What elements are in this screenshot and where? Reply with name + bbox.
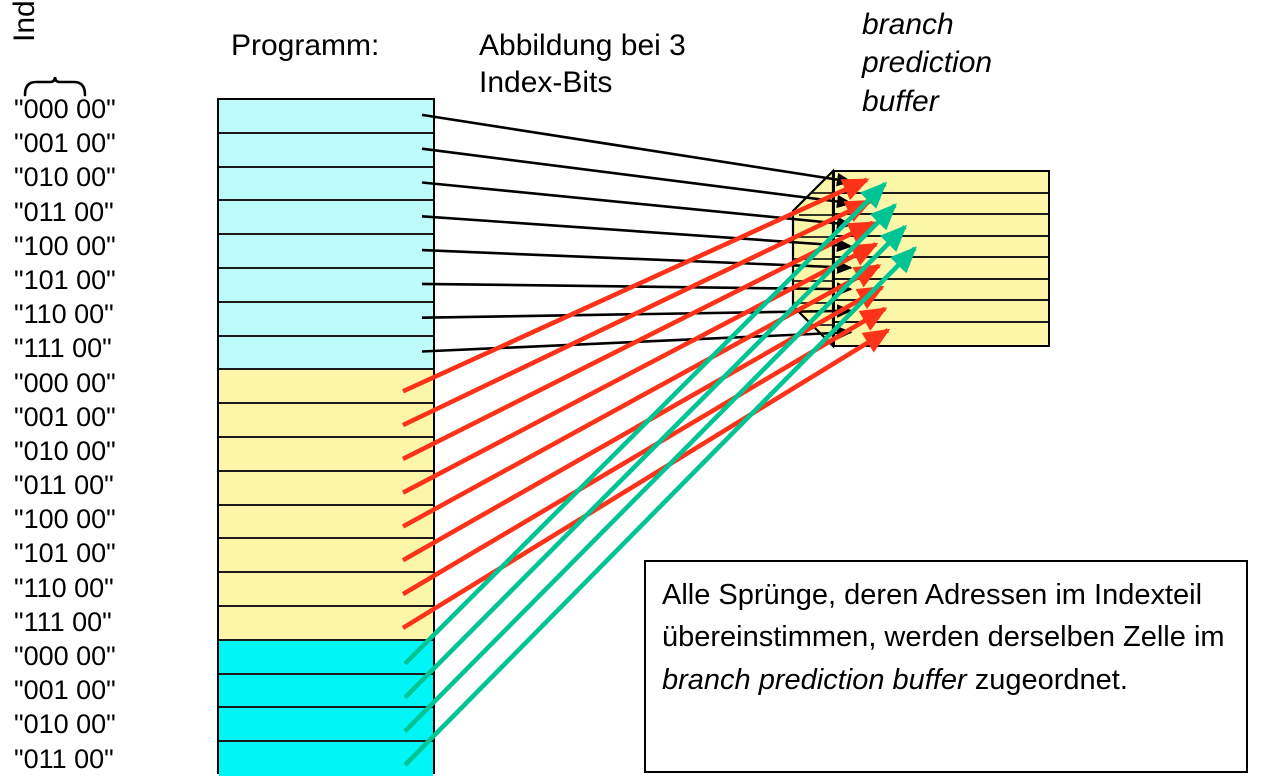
- program-row: [219, 404, 433, 438]
- buffer-row: [835, 323, 1048, 345]
- program-row: [219, 100, 433, 134]
- mapping-arrow-block2: [403, 287, 882, 560]
- caption-box: Alle Sprünge, deren Adressen im Indextei…: [644, 560, 1248, 773]
- address-label: "011 00": [14, 195, 209, 229]
- address-label: "010 00": [14, 707, 209, 741]
- buffer-row: [835, 280, 1048, 302]
- caption-part2: zugeordnet.: [967, 664, 1128, 696]
- address-label: "101 00": [14, 263, 209, 297]
- address-label: "011 00": [14, 468, 209, 502]
- address-label: "111 00": [14, 605, 209, 639]
- buffer-row: [835, 258, 1048, 280]
- branch-prediction-buffer-heading: branch prediction buffer: [862, 6, 992, 121]
- address-label: "101 00": [14, 536, 209, 570]
- program-row: [219, 269, 433, 303]
- address-label: "000 00": [14, 366, 209, 400]
- buffer-row: [835, 237, 1048, 259]
- address-label: "000 00": [14, 639, 209, 673]
- address-label: "001 00": [14, 400, 209, 434]
- mapping-arrow-block2: [403, 180, 867, 392]
- program-row: [219, 539, 433, 573]
- program-row: [219, 370, 433, 404]
- program-row: [219, 337, 433, 371]
- buffer-row: [835, 215, 1048, 237]
- program-row: [219, 607, 433, 641]
- diagram-canvas: Index Programm: Abbildung bei 3 Index-Bi…: [0, 0, 1261, 784]
- mapping-arrow-block1: [422, 250, 851, 268]
- mapping-arrow-block2: [403, 309, 885, 594]
- mapping-arrow-block2: [403, 201, 870, 425]
- address-label: "011 00": [14, 742, 209, 776]
- program-memory-table: [217, 98, 435, 774]
- program-row: [219, 303, 433, 337]
- address-label: "111 00": [14, 331, 209, 365]
- mapping-arrow-block1: [422, 183, 851, 225]
- address-label: "100 00": [14, 229, 209, 263]
- program-row: [219, 235, 433, 269]
- address-label: "010 00": [14, 434, 209, 468]
- caption-part1: Alle Sprünge, deren Adressen im Indextei…: [662, 579, 1225, 653]
- address-label: "010 00": [14, 160, 209, 194]
- mapping-arrow-block2: [403, 223, 873, 459]
- mapping-arrow-block1: [422, 115, 851, 182]
- program-row: [219, 641, 433, 675]
- program-row: [219, 742, 433, 776]
- program-row: [219, 134, 433, 168]
- program-row: [219, 675, 433, 709]
- mapping-arrow-block1: [422, 149, 851, 204]
- buffer-row: [835, 301, 1048, 323]
- address-label: "000 00": [14, 92, 209, 126]
- address-label: "001 00": [14, 673, 209, 707]
- address-label: "001 00": [14, 126, 209, 160]
- buffer-row: [835, 172, 1048, 194]
- program-heading: Programm:: [231, 28, 379, 65]
- mapping-arrow-block1: [422, 311, 851, 318]
- mapping-arrow-block1: [422, 216, 851, 246]
- buffer-row: [835, 194, 1048, 216]
- address-label: "110 00": [14, 571, 209, 605]
- caption-emphasis: branch prediction buffer: [662, 664, 967, 696]
- address-label: "100 00": [14, 502, 209, 536]
- mapping-arrow-block1: [422, 332, 851, 351]
- program-row: [219, 573, 433, 607]
- mapping-arrow-block2: [403, 266, 879, 527]
- address-label: "110 00": [14, 297, 209, 331]
- program-row: [219, 708, 433, 742]
- program-row: [219, 168, 433, 202]
- index-label-group: Index: [0, 0, 106, 84]
- program-row: [219, 201, 433, 235]
- address-label-column: "000 00""001 00""010 00""011 00""100 00"…: [14, 92, 209, 776]
- index-label-text: Index: [10, 0, 40, 42]
- program-row: [219, 506, 433, 540]
- mapping-heading: Abbildung bei 3 Index-Bits: [479, 28, 686, 101]
- buffer-funnel-shape: [793, 171, 833, 346]
- program-row: [219, 438, 433, 472]
- mapping-arrow-block1: [422, 284, 851, 289]
- mapping-arrow-block2: [403, 244, 876, 492]
- program-row: [219, 472, 433, 506]
- black-arrow-group: [422, 115, 851, 352]
- branch-prediction-buffer-table: [833, 170, 1050, 347]
